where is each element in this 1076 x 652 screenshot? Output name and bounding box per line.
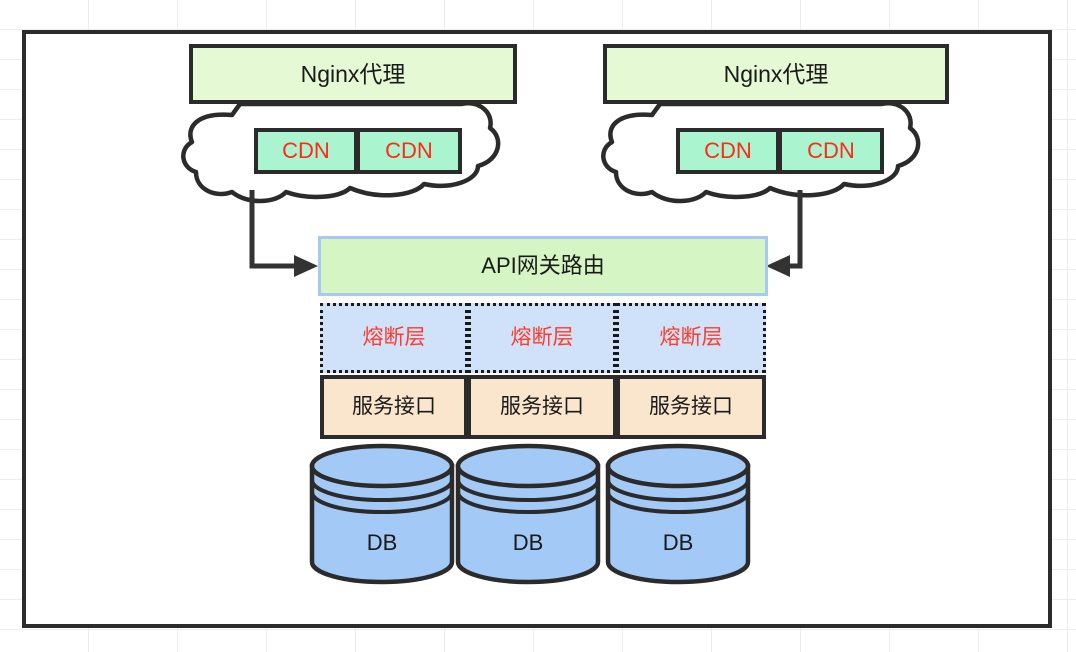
- circuit-breaker-1[interactable]: 熔断层: [320, 303, 468, 373]
- nginx-proxy-right[interactable]: Nginx代理: [603, 44, 949, 104]
- nginx-proxy-left-label: Nginx代理: [301, 61, 406, 87]
- api-gateway-box[interactable]: API网关路由: [318, 236, 768, 296]
- cdn-box-left-1[interactable]: CDN: [254, 128, 358, 174]
- cdn-box-right-2[interactable]: CDN: [780, 128, 884, 174]
- cdn-group-left: CDN CDN: [254, 128, 462, 174]
- cdn-box-right-1-label: CDN: [704, 138, 752, 164]
- cdn-box-left-2-label: CDN: [385, 138, 433, 164]
- service-interface-3[interactable]: 服务接口: [616, 375, 766, 439]
- nginx-proxy-right-label: Nginx代理: [724, 61, 829, 87]
- cdn-box-left-2[interactable]: CDN: [358, 128, 462, 174]
- circuit-breaker-1-label: 熔断层: [363, 326, 426, 350]
- service-interface-1-label: 服务接口: [352, 395, 436, 419]
- cdn-box-right-1[interactable]: CDN: [676, 128, 780, 174]
- cdn-group-right: CDN CDN: [676, 128, 884, 174]
- api-gateway-label: API网关路由: [481, 253, 604, 278]
- circuit-breaker-3[interactable]: 熔断层: [616, 303, 766, 373]
- service-interface-2[interactable]: 服务接口: [467, 375, 617, 439]
- cdn-box-right-2-label: CDN: [807, 138, 855, 164]
- database-cylinder-2[interactable]: [458, 446, 598, 582]
- circuit-breaker-2-label: 熔断层: [511, 326, 574, 350]
- service-interface-3-label: 服务接口: [649, 395, 733, 419]
- service-interface-2-label: 服务接口: [500, 395, 584, 419]
- architecture-diagram: Nginx代理 Nginx代理 CDN CDN CDN CDN API网关路由 …: [0, 0, 1076, 652]
- service-interface-1[interactable]: 服务接口: [320, 375, 468, 439]
- database-cylinder-1[interactable]: [312, 446, 452, 582]
- database-cylinder-3[interactable]: [608, 446, 748, 582]
- circuit-breaker-3-label: 熔断层: [660, 326, 723, 350]
- nginx-proxy-left[interactable]: Nginx代理: [189, 44, 517, 104]
- cdn-box-left-1-label: CDN: [282, 138, 330, 164]
- circuit-breaker-2[interactable]: 熔断层: [468, 303, 616, 373]
